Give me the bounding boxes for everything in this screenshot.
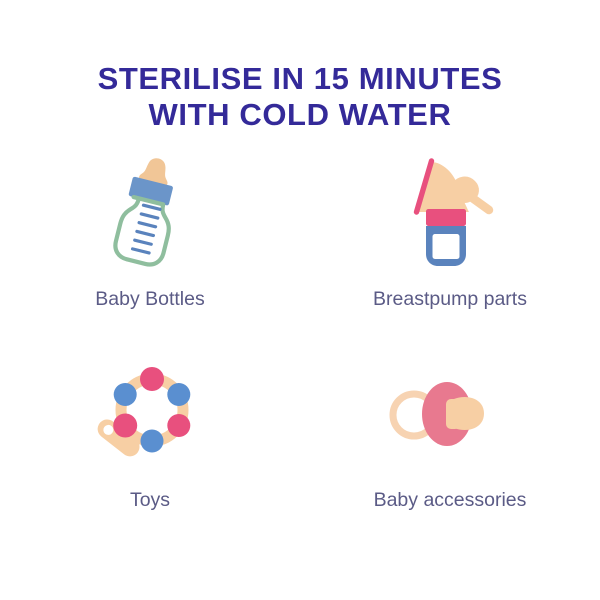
breastpump-icon xyxy=(370,150,530,275)
category-label-baby-accessories: Baby accessories xyxy=(374,488,527,512)
poster-canvas: STERILISE IN 15 MINUTES WITH COLD WATER xyxy=(0,0,600,600)
category-label-toys: Toys xyxy=(130,488,170,512)
category-item-baby-bottles[interactable]: Baby Bottles xyxy=(5,150,295,355)
page-title: STERILISE IN 15 MINUTES WITH COLD WATER xyxy=(0,61,600,133)
category-label-breastpump-parts: Breastpump parts xyxy=(373,287,527,311)
baby-bottle-icon xyxy=(70,150,230,275)
page-title-line-1: STERILISE IN 15 MINUTES xyxy=(0,61,600,97)
category-grid: Baby Bottles xyxy=(0,150,600,570)
rattle-toy-icon xyxy=(70,360,230,470)
category-item-baby-accessories[interactable]: Baby accessories xyxy=(305,360,595,565)
category-label-baby-bottles: Baby Bottles xyxy=(95,287,204,311)
category-item-toys[interactable]: Toys xyxy=(5,360,295,565)
category-item-breastpump-parts[interactable]: Breastpump parts xyxy=(305,150,595,355)
page-title-line-2: WITH COLD WATER xyxy=(0,97,600,133)
pacifier-icon xyxy=(370,360,530,470)
